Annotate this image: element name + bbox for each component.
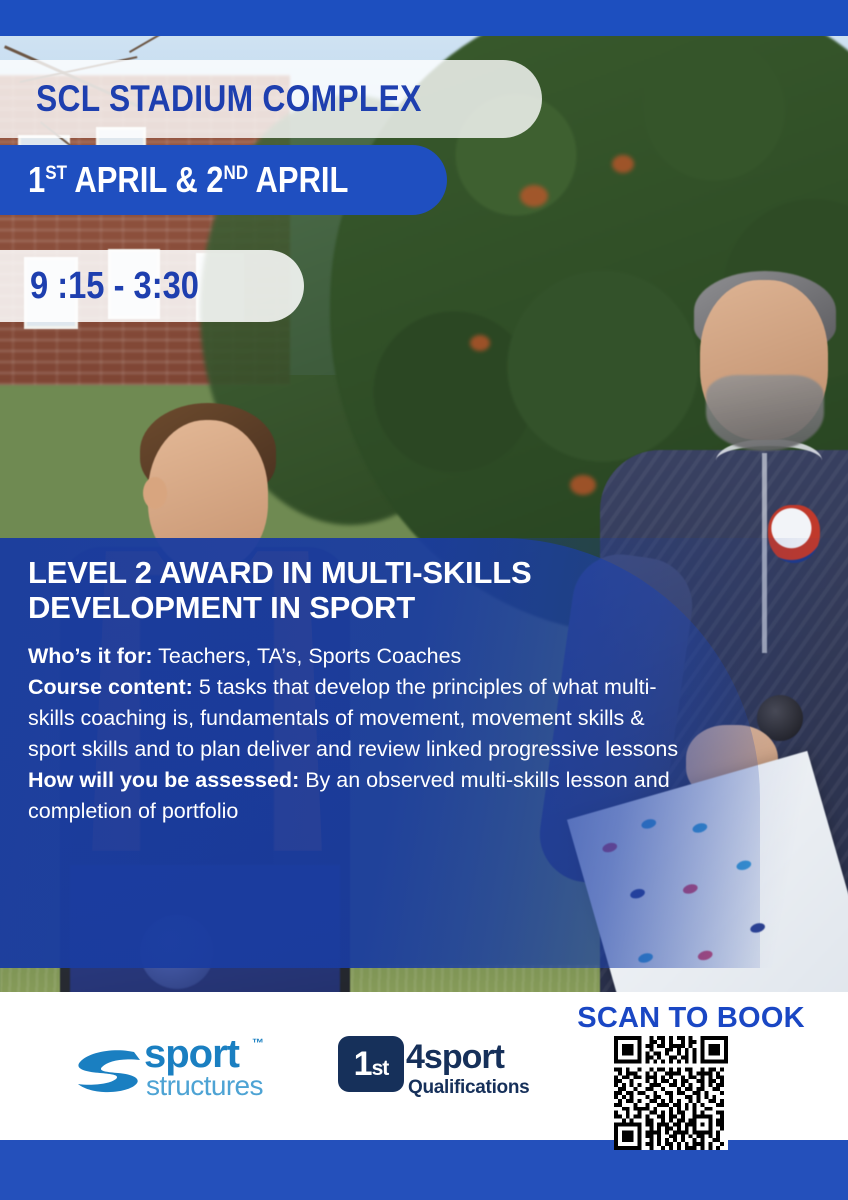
course-content-line: Course content: 5 tasks that develop the… bbox=[28, 672, 688, 765]
scan-to-book-block: SCAN TO BOOK bbox=[556, 1002, 826, 1035]
foliage-highlight bbox=[470, 335, 490, 351]
venue-pill: SCL STADIUM COMPLEX bbox=[0, 60, 542, 138]
qr-code-icon[interactable] bbox=[614, 1036, 728, 1150]
audience-line: Who’s it for: Teachers, TA’s, Sports Coa… bbox=[28, 641, 688, 672]
dates-pill: 1ST APRIL & 2ND APRIL bbox=[0, 145, 447, 215]
foliage-highlight bbox=[520, 185, 548, 207]
first4sport-logo: 1st 4sport Qualifications bbox=[338, 1034, 518, 1106]
dates-first-number: 1 bbox=[28, 159, 45, 200]
first4sport-badge-number: 1 bbox=[354, 1045, 372, 1083]
course-title: LEVEL 2 AWARD IN MULTI-SKILLS DEVELOPMEN… bbox=[28, 556, 688, 625]
course-details: LEVEL 2 AWARD IN MULTI-SKILLS DEVELOPMEN… bbox=[28, 556, 688, 827]
top-border-bar bbox=[0, 0, 848, 36]
dates-end: APRIL bbox=[248, 159, 348, 200]
sport-structures-sub: structures bbox=[146, 1072, 263, 1100]
assessment-label: How will you be assessed: bbox=[28, 768, 299, 792]
first4sport-badge: 1st bbox=[338, 1036, 404, 1092]
person-left-ear bbox=[143, 477, 167, 509]
dates-second-suffix: ND bbox=[224, 162, 249, 184]
event-poster: SCL STADIUM COMPLEX 1ST APRIL & 2ND APRI… bbox=[0, 0, 848, 1200]
audience-value: Teachers, TA’s, Sports Coaches bbox=[153, 644, 462, 668]
time-pill: 9 :15 - 3:30 bbox=[0, 250, 304, 322]
qr-code[interactable] bbox=[614, 1036, 728, 1150]
sport-structures-logo: sport ™ structures bbox=[76, 1032, 286, 1108]
dates-middle: APRIL & 2 bbox=[67, 159, 224, 200]
venue-label: SCL STADIUM COMPLEX bbox=[36, 78, 422, 120]
time-label: 9 :15 - 3:30 bbox=[30, 265, 199, 308]
foliage-highlight bbox=[612, 155, 634, 173]
course-title-line1: LEVEL 2 AWARD IN MULTI-SKILLS bbox=[28, 555, 531, 590]
course-title-line2: DEVELOPMENT IN SPORT bbox=[28, 590, 415, 625]
trademark-icon: ™ bbox=[252, 1036, 264, 1050]
dates-first-suffix: ST bbox=[45, 162, 67, 184]
coach-beard bbox=[706, 375, 824, 451]
course-content-label: Course content: bbox=[28, 675, 193, 699]
first4sport-sub: Qualifications bbox=[408, 1078, 529, 1097]
first4sport-badge-suffix: st bbox=[372, 1057, 389, 1080]
first4sport-badge-text: 1st bbox=[354, 1047, 389, 1081]
foliage-highlight bbox=[570, 475, 596, 495]
s-swoosh-icon bbox=[76, 1048, 142, 1096]
scan-to-book-label: SCAN TO BOOK bbox=[556, 1002, 826, 1035]
first4sport-word: 4sport bbox=[406, 1040, 504, 1074]
dates-label: 1ST APRIL & 2ND APRIL bbox=[28, 159, 348, 201]
sport-structures-word: sport bbox=[144, 1034, 239, 1074]
audience-label: Who’s it for: bbox=[28, 644, 153, 668]
assessment-line: How will you be assessed: By an observed… bbox=[28, 765, 688, 827]
